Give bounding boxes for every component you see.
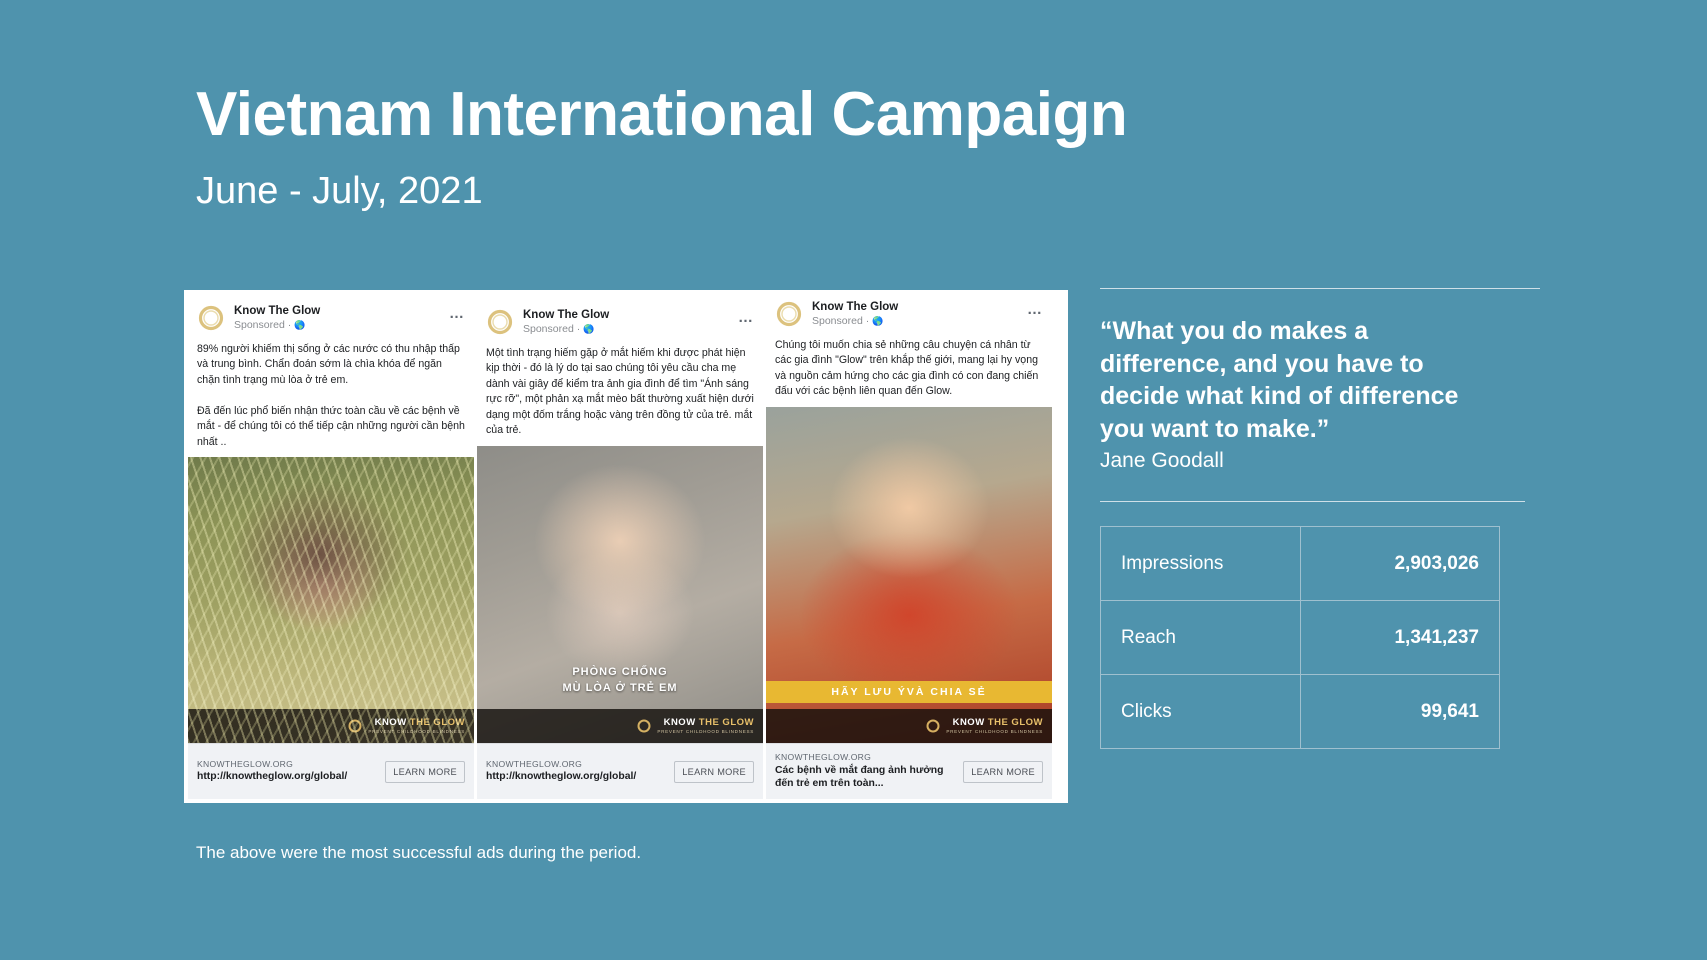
ad-brand-name: Know The Glow <box>523 308 609 322</box>
ad-sponsored-row: Sponsored · 🌎 <box>523 322 609 336</box>
image-brand-bar: KNOW THE GLOW PREVENT CHILDHOOD BLINDNES… <box>188 709 474 743</box>
ad-image-overlay-text: HÃY LƯU ÝVÀ CHIA SẺ <box>766 681 1052 703</box>
image-brand-bar: KNOW THE GLOW PREVENT CHILDHOOD BLINDNES… <box>766 709 1052 743</box>
brandbar-wordmark: KNOW THE GLOW <box>657 718 754 728</box>
stat-value: 1,341,237 <box>1301 601 1500 675</box>
ads-caption: The above were the most successful ads d… <box>196 843 641 863</box>
ad-footer-text: KNOWTHEGLOW.ORG Các bệnh về mắt đang ảnh… <box>775 752 957 790</box>
stat-value: 2,903,026 <box>1301 527 1500 601</box>
ad-footer-text: KNOWTHEGLOW.ORG http://knowtheglow.org/g… <box>197 759 379 784</box>
ad-sponsored-row: Sponsored · 🌎 <box>234 318 320 332</box>
dot-separator: · <box>866 314 870 328</box>
ad-body-text: Một tình trạng hiếm gặp ở mắt hiếm khi đ… <box>477 341 763 446</box>
table-row: Clicks 99,641 <box>1101 675 1500 749</box>
learn-more-button[interactable]: LEARN MORE <box>385 761 465 783</box>
brandbar-wordmark: KNOW THE GLOW <box>368 718 465 728</box>
ad-sponsored-label: Sponsored <box>523 322 574 336</box>
know-the-glow-logo-icon <box>196 303 226 333</box>
brandbar-text: KNOW THE GLOW PREVENT CHILDHOOD BLINDNES… <box>946 718 1043 733</box>
page-title: Vietnam International Campaign <box>196 84 1127 146</box>
ad-domain: KNOWTHEGLOW.ORG <box>775 752 957 763</box>
ad-card[interactable]: Know The Glow Sponsored · 🌎 … 89% người … <box>188 294 474 799</box>
ad-domain: KNOWTHEGLOW.ORG <box>197 759 379 770</box>
stat-value: 99,641 <box>1301 675 1500 749</box>
stats-table-body: Impressions 2,903,026 Reach 1,341,237 Cl… <box>1101 527 1500 749</box>
ad-domain: KNOWTHEGLOW.ORG <box>486 759 668 770</box>
stat-label: Reach <box>1101 601 1301 675</box>
ad-headline: http://knowtheglow.org/global/ <box>486 770 668 784</box>
globe-icon: 🌎 <box>872 315 883 327</box>
dot-separator: · <box>577 322 581 336</box>
ad-image: PHÒNG CHỐNG MÙ LÒA Ở TRẺ EM KNOW THE GLO… <box>477 446 763 743</box>
quote-text: “What you do makes a difference, and you… <box>1100 315 1500 445</box>
ad-more-options-icon[interactable]: … <box>1027 302 1043 317</box>
ad-body-text: Chúng tôi muốn chia sẻ những câu chuyện … <box>766 333 1052 407</box>
ad-more-options-icon[interactable]: … <box>449 306 465 321</box>
dot-separator: · <box>288 318 292 332</box>
ad-headline: http://knowtheglow.org/global/ <box>197 770 379 784</box>
ad-more-options-icon[interactable]: … <box>738 310 754 325</box>
ad-header-text: Know The Glow Sponsored · 🌎 <box>234 303 320 333</box>
ad-sponsored-row: Sponsored · 🌎 <box>812 314 898 328</box>
ad-header: Know The Glow Sponsored · 🌎 … <box>766 290 1052 333</box>
ad-sponsored-label: Sponsored <box>812 314 863 328</box>
globe-icon: 🌎 <box>583 323 594 335</box>
ad-brand-name: Know The Glow <box>234 304 320 318</box>
divider-middle <box>1100 501 1525 502</box>
ad-header-text: Know The Glow Sponsored · 🌎 <box>523 307 609 337</box>
right-column: “What you do makes a difference, and you… <box>1100 288 1540 749</box>
ad-footer-text: KNOWTHEGLOW.ORG http://knowtheglow.org/g… <box>486 759 668 784</box>
brandbar-ring-icon <box>925 718 941 734</box>
image-brand-bar: KNOW THE GLOW PREVENT CHILDHOOD BLINDNES… <box>477 709 763 743</box>
quote-author: Jane Goodall <box>1100 447 1540 474</box>
globe-icon: 🌎 <box>294 319 305 331</box>
ad-footer: KNOWTHEGLOW.ORG http://knowtheglow.org/g… <box>188 743 474 799</box>
campaign-stats-table: Impressions 2,903,026 Reach 1,341,237 Cl… <box>1100 526 1500 749</box>
page-subtitle: June - July, 2021 <box>196 172 1127 210</box>
brandbar-ring-icon <box>347 718 363 734</box>
ad-footer: KNOWTHEGLOW.ORG Các bệnh về mắt đang ảnh… <box>766 743 1052 799</box>
brandbar-tagline: PREVENT CHILDHOOD BLINDNESS <box>657 729 754 734</box>
brandbar-ring-icon <box>636 718 652 734</box>
ad-card[interactable]: Know The Glow Sponsored · 🌎 … Chúng tôi … <box>766 290 1052 799</box>
table-row: Impressions 2,903,026 <box>1101 527 1500 601</box>
learn-more-button[interactable]: LEARN MORE <box>963 761 1043 783</box>
ad-body-text: 89% người khiếm thị sống ở các nước có t… <box>188 337 474 457</box>
ad-image: HÃY LƯU ÝVÀ CHIA SẺ KNOW THE GLOW PREVEN… <box>766 407 1052 743</box>
ad-brand-name: Know The Glow <box>812 300 898 314</box>
ad-image-overlay-text: PHÒNG CHỐNG MÙ LÒA Ở TRẺ EM <box>477 665 763 697</box>
brandbar-wordmark: KNOW THE GLOW <box>946 718 1043 728</box>
ad-header-text: Know The Glow Sponsored · 🌎 <box>812 299 898 329</box>
know-the-glow-logo-icon <box>485 307 515 337</box>
table-row: Reach 1,341,237 <box>1101 601 1500 675</box>
stat-label: Clicks <box>1101 675 1301 749</box>
ad-image: KNOW THE GLOW PREVENT CHILDHOOD BLINDNES… <box>188 457 474 743</box>
ad-header: Know The Glow Sponsored · 🌎 … <box>188 294 474 337</box>
brandbar-text: KNOW THE GLOW PREVENT CHILDHOOD BLINDNES… <box>368 718 465 733</box>
brandbar-tagline: PREVENT CHILDHOOD BLINDNESS <box>368 729 465 734</box>
title-block: Vietnam International Campaign June - Ju… <box>196 84 1127 210</box>
know-the-glow-logo-icon <box>774 299 804 329</box>
ad-headline: Các bệnh về mắt đang ảnh hưởng đến trẻ e… <box>775 764 957 791</box>
learn-more-button[interactable]: LEARN MORE <box>674 761 754 783</box>
ad-footer: KNOWTHEGLOW.ORG http://knowtheglow.org/g… <box>477 743 763 799</box>
brandbar-tagline: PREVENT CHILDHOOD BLINDNESS <box>946 729 1043 734</box>
brandbar-text: KNOW THE GLOW PREVENT CHILDHOOD BLINDNES… <box>657 718 754 733</box>
ad-header: Know The Glow Sponsored · 🌎 … <box>477 298 763 341</box>
stat-label: Impressions <box>1101 527 1301 601</box>
facebook-ads-screenshot: Know The Glow Sponsored · 🌎 … 89% người … <box>184 290 1068 803</box>
divider-top <box>1100 288 1540 289</box>
ad-sponsored-label: Sponsored <box>234 318 285 332</box>
ad-card[interactable]: Know The Glow Sponsored · 🌎 … Một tình t… <box>477 298 763 799</box>
